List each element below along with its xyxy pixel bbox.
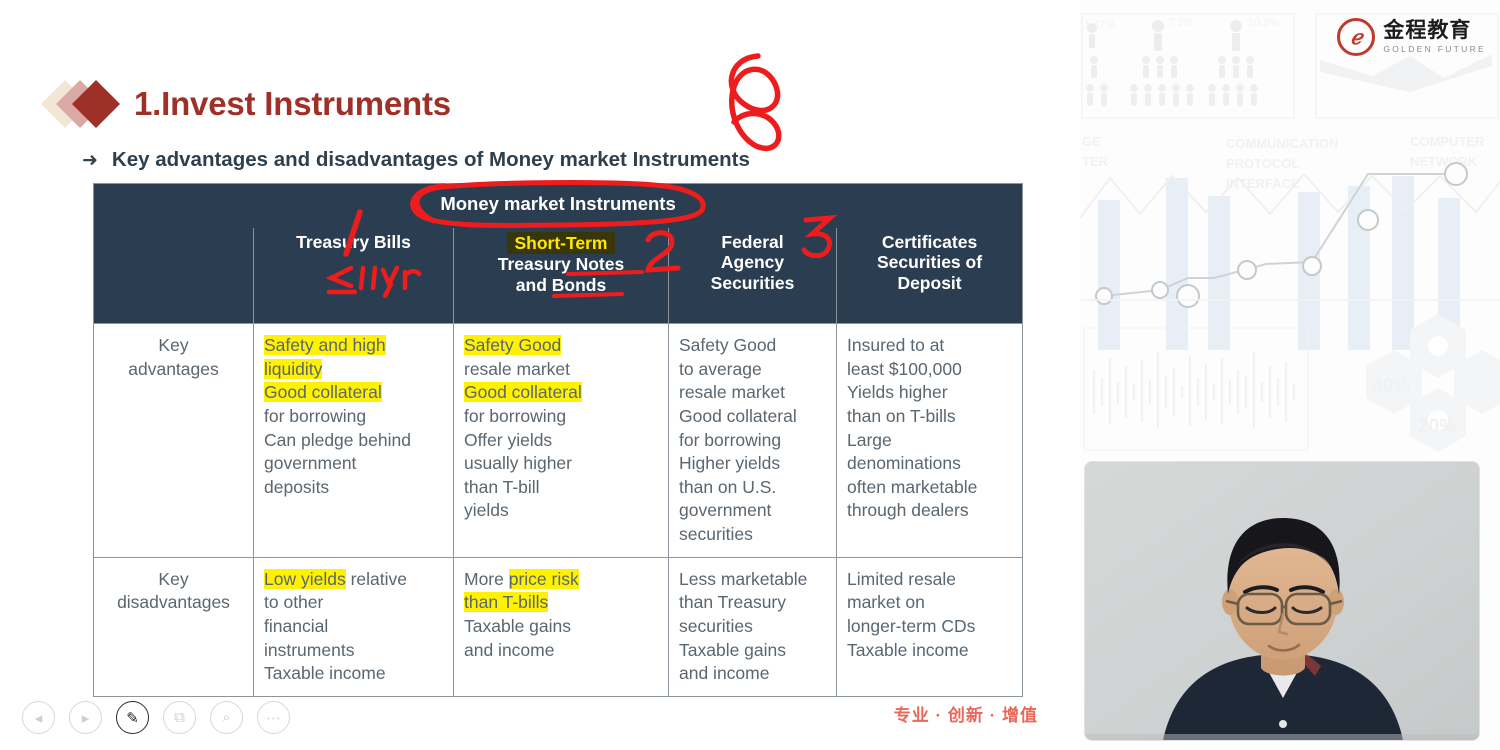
column-header-1: Short-TermTreasury Notesand Bonds <box>454 228 669 324</box>
cell-line: denominations <box>847 452 1014 476</box>
table-row: KeyadvantagesSafety and highliquidityGoo… <box>94 324 1023 558</box>
cell-line: Less marketable <box>679 568 828 592</box>
cell-line: than Treasury <box>679 591 828 615</box>
cell-line: than T-bills <box>464 591 660 615</box>
cell-line: than T-bill <box>464 476 660 500</box>
cell-line: than on U.S. <box>679 476 828 500</box>
zoom-button[interactable]: ⌕ <box>210 701 243 734</box>
cell-line: Taxable gains <box>464 615 660 639</box>
cell-r1-c2: Less marketablethan TreasurysecuritiesTa… <box>669 557 837 696</box>
cell-line: instruments <box>264 639 445 663</box>
column-header-line: Treasury Notes <box>460 254 662 275</box>
svg-text:NETWORK: NETWORK <box>1410 154 1478 169</box>
cell-line: Taxable income <box>264 662 445 686</box>
instructor-webcam-image <box>1085 462 1479 740</box>
brand-name-cn: 金程教育 <box>1383 20 1486 42</box>
table-banner-cell: Money market Instruments <box>94 184 1023 228</box>
column-header-highlight: Short-Term <box>507 232 614 255</box>
cell-line: to other <box>264 591 445 615</box>
cell-r1-c3: Limited resalemarket onlonger-term CDsTa… <box>837 557 1023 696</box>
cell-line: liquidity <box>264 358 445 382</box>
row-label-0: Keyadvantages <box>94 324 254 558</box>
table-banner-text: Money market Instruments <box>440 193 675 215</box>
column-header-2: FederalAgencySecurities <box>669 228 837 324</box>
column-header-line: Securities of <box>843 252 1016 273</box>
cell-line: Insured to at <box>847 334 1014 358</box>
cell-r0-c3: Insured to atleast $100,000Yields higher… <box>837 324 1023 558</box>
copy-icon: ⧉ <box>174 709 185 726</box>
cell-line: for borrowing <box>264 405 445 429</box>
search-icon: ⌕ <box>222 709 230 726</box>
pen-icon: ✎ <box>126 709 139 727</box>
cell-line: Can pledge behind <box>264 429 445 453</box>
svg-text:1.47%: 1.47% <box>1084 19 1115 31</box>
cell-line: than on T-bills <box>847 405 1014 429</box>
table-row: KeydisadvantagesLow yields relativeto ot… <box>94 557 1023 696</box>
cell-line: and income <box>679 662 828 686</box>
cell-line: Safety Good <box>679 334 828 358</box>
cell-line: and income <box>464 639 660 663</box>
table-header-row: Treasury BillsShort-TermTreasury Notesan… <box>94 228 1023 324</box>
cell-line: Safety Good <box>464 334 660 358</box>
subtitle-text: Key advantages and disadvantages of Mone… <box>112 148 750 172</box>
column-header-line: Treasury Bills <box>260 232 447 253</box>
cell-line: government <box>679 499 828 523</box>
slide-canvas: 1.Invest Instruments ➜ Key advantages an… <box>0 0 1080 750</box>
cell-line: securities <box>679 523 828 547</box>
arrow-bullet-icon: ➜ <box>82 151 98 170</box>
cell-line: securities <box>679 615 828 639</box>
cell-line: market on <box>847 591 1014 615</box>
cell-line: resale market <box>464 358 660 382</box>
cell-r1-c1: More price riskthan T-billsTaxable gains… <box>454 557 669 696</box>
svg-text:20%: 20% <box>1418 416 1456 437</box>
cell-line: resale market <box>679 381 828 405</box>
brand-seal-icon: ℯ <box>1337 18 1375 56</box>
svg-text:TER: TER <box>1082 154 1109 169</box>
column-header-line: Certificates <box>843 232 1016 253</box>
next-slide-button[interactable]: ▸✦ <box>69 701 102 734</box>
cell-line: for borrowing <box>464 405 660 429</box>
column-header-line: and Bonds <box>460 275 662 296</box>
page-title: 1.Invest Instruments <box>134 85 451 123</box>
cell-line: usually higher <box>464 452 660 476</box>
cell-line: often marketable <box>847 476 1014 500</box>
cell-line: Good collateral <box>679 405 828 429</box>
instructor-video-tile[interactable] <box>1085 462 1479 740</box>
ellipsis-icon: ⋯ <box>266 709 281 727</box>
comparison-table: Money market Instruments Treasury BillsS… <box>93 183 1023 697</box>
svg-text:COMMUNICATION: COMMUNICATION <box>1226 136 1338 151</box>
svg-text:COMPUTER: COMPUTER <box>1410 134 1485 149</box>
cell-line: government <box>264 452 445 476</box>
cell-line: Taxable income <box>847 639 1014 663</box>
cell-line: Large <box>847 429 1014 453</box>
copy-button[interactable]: ⧉ <box>163 701 196 734</box>
column-header-line: Deposit <box>843 273 1016 294</box>
annotation-figure-eight <box>700 48 810 158</box>
diamond-decoration-icon <box>48 78 124 130</box>
cell-line: Low yields relative <box>264 568 445 592</box>
cell-line: Good collateral <box>264 381 445 405</box>
cell-line: to average <box>679 358 828 382</box>
column-header-line: Agency <box>675 252 830 273</box>
cell-line: Taxable gains <box>679 639 828 663</box>
cell-r0-c0: Safety and highliquidityGood collateralf… <box>254 324 454 558</box>
more-options-button[interactable]: ⋯ <box>257 701 290 734</box>
cell-line: Safety and high <box>264 334 445 358</box>
column-header-line: Federal <box>675 232 830 253</box>
svg-text:40%: 40% <box>1372 376 1410 397</box>
column-header-0: Treasury Bills <box>254 228 454 324</box>
cell-line: through dealers <box>847 499 1014 523</box>
cell-r0-c2: Safety Goodto averageresale marketGood c… <box>669 324 837 558</box>
cell-line: deposits <box>264 476 445 500</box>
cell-line: Offer yields <box>464 429 660 453</box>
column-header-line: Securities <box>675 273 830 294</box>
table-banner-row: Money market Instruments <box>94 184 1023 228</box>
svg-text:7.2%: 7.2% <box>1168 17 1193 29</box>
cell-line: financial <box>264 615 445 639</box>
table-corner-cell <box>94 228 254 324</box>
brand-logo: ℯ 金程教育 GOLDEN FUTURE <box>1337 18 1486 56</box>
cell-line: longer-term CDs <box>847 615 1014 639</box>
cell-line: Good collateral <box>464 381 660 405</box>
cell-line: least $100,000 <box>847 358 1014 382</box>
svg-text:GE: GE <box>1082 134 1101 149</box>
chevron-left-icon: ◂ <box>35 709 43 727</box>
cell-line: Limited resale <box>847 568 1014 592</box>
table-body: KeyadvantagesSafety and highliquidityGoo… <box>94 324 1023 697</box>
column-header-3: CertificatesSecurities ofDeposit <box>837 228 1023 324</box>
row-label-1: Keydisadvantages <box>94 557 254 696</box>
svg-text:10.9%: 10.9% <box>1248 17 1279 29</box>
subtitle-row: ➜ Key advantages and disadvantages of Mo… <box>82 148 750 172</box>
cell-line: yields <box>464 499 660 523</box>
cell-r0-c1: Safety Goodresale marketGood collateralf… <box>454 324 669 558</box>
chevron-right-icon: ▸ <box>82 709 90 727</box>
slide-toolbar[interactable]: ◂▸✦✎⧉⌕⋯ <box>22 701 290 734</box>
brand-name-en: GOLDEN FUTURE <box>1383 44 1486 54</box>
pen-tool-button[interactable]: ✎ <box>116 701 149 734</box>
cell-line: Higher yields <box>679 452 828 476</box>
cell-line: Yields higher <box>847 381 1014 405</box>
slide-title-block: 1.Invest Instruments <box>48 78 451 130</box>
svg-text:PROTOCOL: PROTOCOL <box>1226 156 1299 171</box>
right-panel: 1.47% 7.2% 10.9% GETER COMMUNICATION PRO… <box>1080 0 1500 750</box>
prev-slide-button[interactable]: ◂ <box>22 701 55 734</box>
cell-line: for borrowing <box>679 429 828 453</box>
cell-r1-c0: Low yields relativeto otherfinancialinst… <box>254 557 454 696</box>
footer-slogan: 专业 · 创新 · 增值 <box>894 701 1038 726</box>
cell-line: More price risk <box>464 568 660 592</box>
